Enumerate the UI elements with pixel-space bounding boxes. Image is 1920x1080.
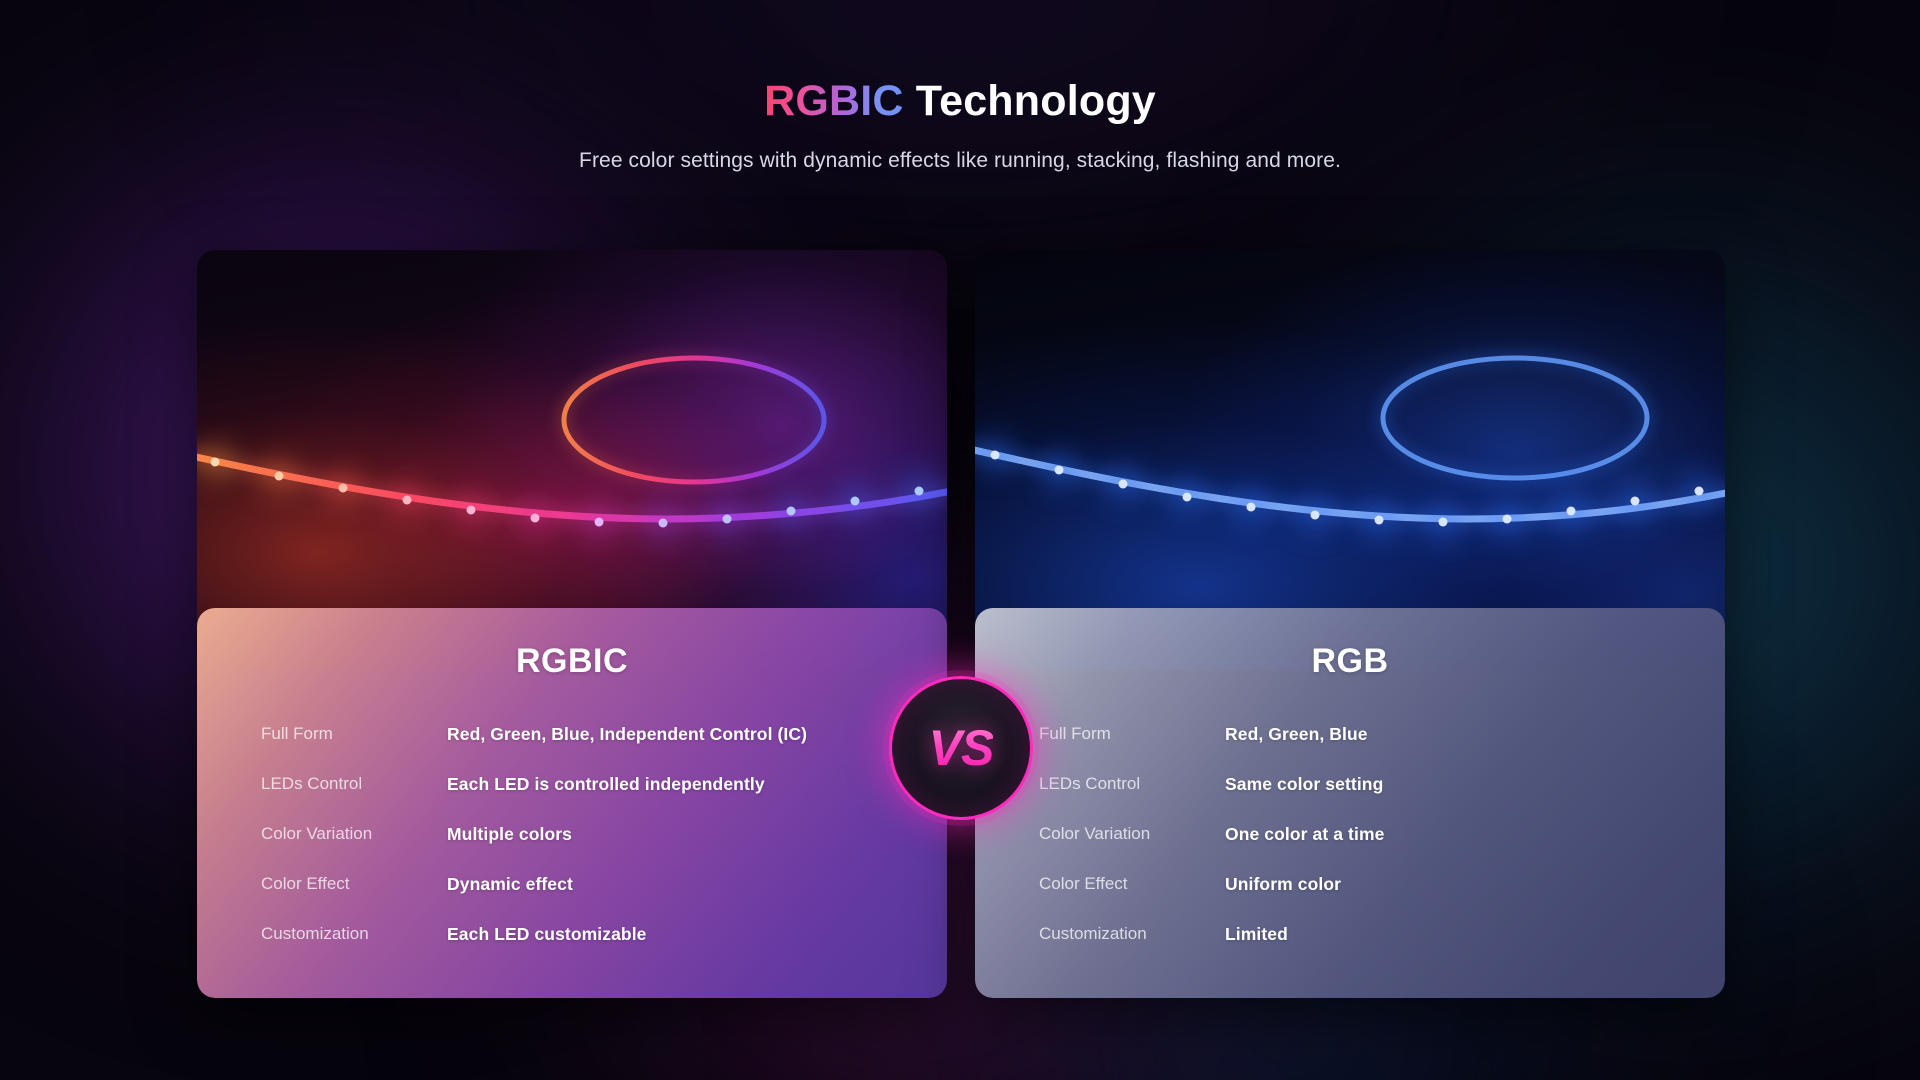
table-row: Color Effect Dynamic effect: [261, 859, 885, 909]
table-row: Customization Each LED customizable: [261, 909, 885, 959]
comparison-section: RGBIC Full Form Red, Green, Blue, Indepe…: [197, 250, 1725, 998]
spec-label: LEDs Control: [1039, 774, 1225, 794]
table-row: LEDs Control Each LED is controlled inde…: [261, 759, 885, 809]
table-row: Color Variation One color at a time: [1039, 809, 1663, 859]
led-strip-photo-rgb: [975, 250, 1725, 670]
spec-value: Limited: [1225, 924, 1288, 945]
spec-label: Customization: [1039, 924, 1225, 944]
spec-value: Red, Green, Blue, Independent Control (I…: [447, 724, 807, 745]
table-row: LEDs Control Same color setting: [1039, 759, 1663, 809]
page-title: RGBIC Technology: [0, 78, 1920, 125]
spec-label: Customization: [261, 924, 447, 944]
comparison-card-rgbic: RGBIC Full Form Red, Green, Blue, Indepe…: [197, 250, 947, 998]
table-row: Full Form Red, Green, Blue: [1039, 709, 1663, 759]
table-row: Customization Limited: [1039, 909, 1663, 959]
info-panel-rgb: RGB Full Form Red, Green, Blue LEDs Cont…: [975, 608, 1725, 998]
led-strip-illustration-rgbic: [197, 250, 947, 670]
card-heading-rgb: RGB: [975, 642, 1725, 681]
led-strip-illustration-rgb: [975, 250, 1725, 670]
spec-value: Dynamic effect: [447, 874, 573, 895]
spec-label: Color Effect: [1039, 874, 1225, 894]
spec-value: Same color setting: [1225, 774, 1383, 795]
spec-value: Each LED customizable: [447, 924, 647, 945]
vs-badge: VS: [889, 676, 1033, 820]
table-row: Color Effect Uniform color: [1039, 859, 1663, 909]
page-title-rest: Technology: [904, 77, 1156, 125]
spec-value: Each LED is controlled independently: [447, 774, 765, 795]
page-subtitle: Free color settings with dynamic effects…: [0, 149, 1920, 173]
led-strip-photo-rgbic: [197, 250, 947, 670]
vs-label: VS: [929, 719, 994, 777]
spec-label: Full Form: [261, 724, 447, 744]
spec-value: One color at a time: [1225, 824, 1384, 845]
table-row: Color Variation Multiple colors: [261, 809, 885, 859]
spec-rows-rgb: Full Form Red, Green, Blue LEDs Control …: [975, 709, 1725, 959]
spec-label: Full Form: [1039, 724, 1225, 744]
page-title-accent: RGBIC: [764, 77, 904, 125]
header: RGBIC Technology Free color settings wit…: [0, 0, 1920, 173]
card-heading-rgbic: RGBIC: [197, 642, 947, 681]
spec-label: Color Variation: [261, 824, 447, 844]
spec-label: LEDs Control: [261, 774, 447, 794]
spec-label: Color Variation: [1039, 824, 1225, 844]
info-panel-rgbic: RGBIC Full Form Red, Green, Blue, Indepe…: [197, 608, 947, 998]
comparison-card-rgb: RGB Full Form Red, Green, Blue LEDs Cont…: [975, 250, 1725, 998]
spec-rows-rgbic: Full Form Red, Green, Blue, Independent …: [197, 709, 947, 959]
spec-value: Uniform color: [1225, 874, 1341, 895]
table-row: Full Form Red, Green, Blue, Independent …: [261, 709, 885, 759]
spec-value: Multiple colors: [447, 824, 572, 845]
spec-value: Red, Green, Blue: [1225, 724, 1368, 745]
spec-label: Color Effect: [261, 874, 447, 894]
